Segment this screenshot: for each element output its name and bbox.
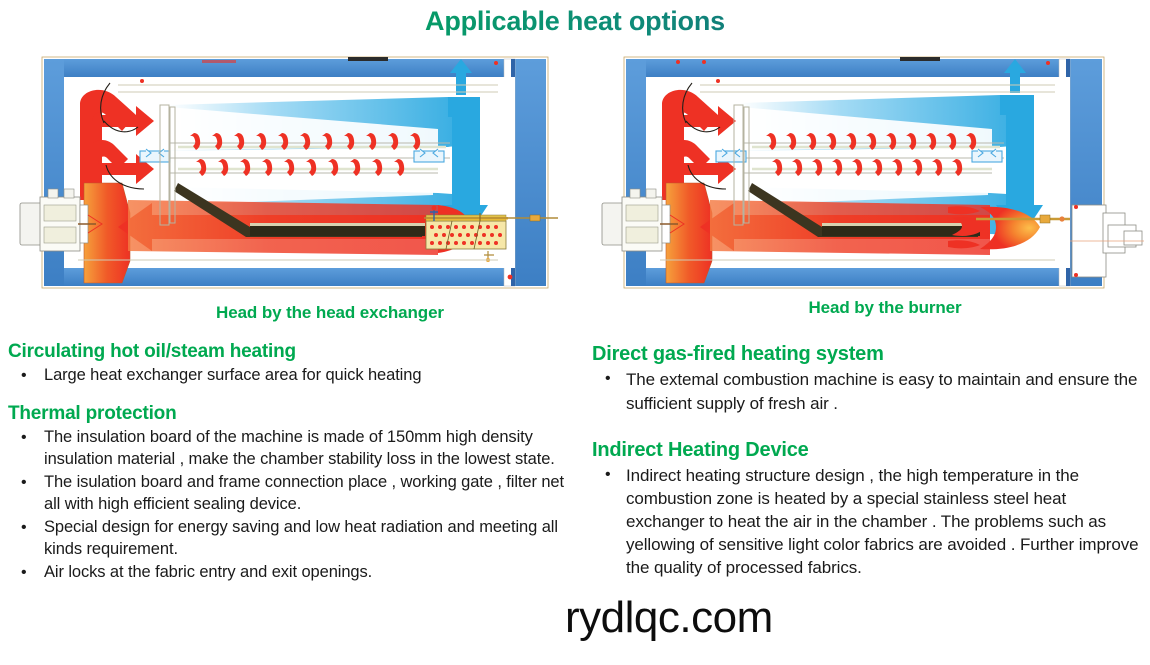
bullet-icon: •	[21, 517, 27, 538]
list-item: • Large heat exchanger surface area for …	[8, 365, 568, 387]
diagram-caption-burner: Head by the burner	[740, 298, 1030, 318]
bullet-icon: •	[21, 365, 27, 386]
diagram-heat-exchanger-machine	[18, 55, 563, 290]
list-item-text: Air locks at the fabric entry and exit o…	[44, 563, 372, 581]
list-item: • Indirect heating structure design , th…	[592, 464, 1148, 580]
list-item-text: The isulation board and frame connection…	[44, 473, 564, 513]
list-item: • The extemal combustion machine is easy…	[592, 368, 1148, 414]
list-item-text: The insulation board of the machine is m…	[44, 428, 555, 468]
section-heading-direct-gas-fired: Direct gas-fired heating system	[592, 342, 1148, 366]
left-text-column: Circulating hot oil/steam heating • Larg…	[8, 340, 568, 585]
bullet-icon: •	[21, 472, 27, 493]
right-text-column: Direct gas-fired heating system • The ex…	[592, 342, 1148, 581]
bullet-list-indirect-heating-device: • Indirect heating structure design , th…	[592, 464, 1148, 580]
bullet-icon: •	[21, 427, 27, 448]
bullet-icon: •	[605, 368, 611, 389]
bullet-list-thermal-protection: • The insulation board of the machine is…	[8, 427, 568, 584]
list-item-text: Special design for energy saving and low…	[44, 518, 558, 558]
bullet-list-direct-gas-fired: • The extemal combustion machine is easy…	[592, 368, 1148, 414]
list-item: • Special design for energy saving and l…	[8, 517, 568, 561]
bullet-list-circulating-hot-oil: • Large heat exchanger surface area for …	[8, 365, 568, 387]
diagram-caption-heat-exchanger: Head by the head exchanger	[140, 303, 520, 323]
bullet-icon: •	[605, 464, 611, 485]
list-item-text: The extemal combustion machine is easy t…	[626, 370, 1137, 412]
bullet-icon: •	[21, 562, 27, 583]
diagram-burner-machine	[600, 55, 1145, 290]
section-heading-circulating-hot-oil: Circulating hot oil/steam heating	[8, 340, 568, 363]
list-item: • Air locks at the fabric entry and exit…	[8, 562, 568, 584]
list-item: • The isulation board and frame connecti…	[8, 472, 568, 516]
list-item-text: Indirect heating structure design , the …	[626, 466, 1138, 577]
page-title: Applicable heat options	[0, 6, 1150, 37]
list-item-text: Large heat exchanger surface area for qu…	[44, 366, 421, 384]
list-item: • The insulation board of the machine is…	[8, 427, 568, 471]
section-heading-indirect-heating-device: Indirect Heating Device	[592, 438, 1148, 462]
site-watermark: rydlqc.com	[565, 596, 773, 640]
section-heading-thermal-protection: Thermal protection	[8, 402, 568, 425]
section-spacer	[592, 416, 1148, 438]
section-spacer	[8, 388, 568, 402]
